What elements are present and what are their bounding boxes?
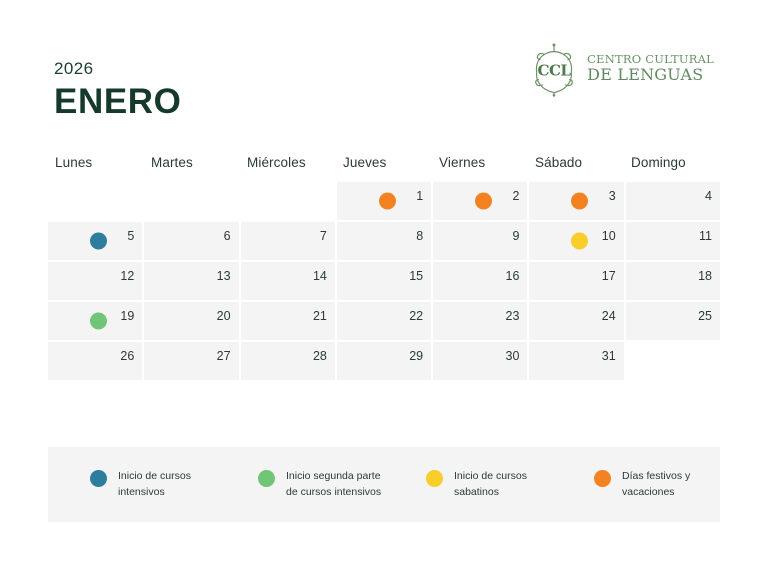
day-number: 31 <box>602 350 616 363</box>
calendar-day-cell[interactable]: 27 <box>144 342 238 380</box>
calendar-page: 2026 ENERO CCL <box>0 0 768 566</box>
weekday-label-jueves: Jueves <box>336 155 432 170</box>
day-number: 30 <box>506 350 520 363</box>
page-header: 2026 ENERO CCL <box>54 40 714 118</box>
weekday-header-row: LunesMartesMiércolesJuevesViernesSábadoD… <box>48 155 720 170</box>
day-number: 4 <box>705 190 712 203</box>
calendar-day-cell[interactable]: 25 <box>626 302 720 340</box>
event-dot-yellow <box>571 233 588 250</box>
legend-label: Inicio de cursos intensivos <box>118 469 216 499</box>
weekday-label-sábado: Sábado <box>528 155 624 170</box>
day-number: 21 <box>313 310 327 323</box>
calendar-day-cell[interactable]: 5 <box>48 222 142 260</box>
svg-text:CCL: CCL <box>538 62 572 80</box>
day-number: 17 <box>602 270 616 283</box>
day-number: 23 <box>506 310 520 323</box>
brand-line-2: DE LENGUAS <box>587 67 714 83</box>
calendar-day-cell[interactable]: 13 <box>144 262 238 300</box>
day-number: 8 <box>416 230 423 243</box>
legend-label: Inicio segunda parte de cursos intensivo… <box>286 469 384 499</box>
calendar-day-cell[interactable]: 21 <box>241 302 335 340</box>
calendar-day-cell[interactable]: 23 <box>433 302 527 340</box>
day-number: 27 <box>217 350 231 363</box>
calendar-day-cell[interactable]: 26 <box>48 342 142 380</box>
day-number: 16 <box>506 270 520 283</box>
event-dot-orange <box>475 193 492 210</box>
calendar-day-cell[interactable]: 18 <box>626 262 720 300</box>
year-label: 2026 <box>54 60 181 77</box>
ccl-monogram-icon: CCL <box>526 41 582 97</box>
title-block: 2026 ENERO <box>54 60 181 119</box>
day-number: 14 <box>313 270 327 283</box>
calendar-day-cell[interactable]: 30 <box>433 342 527 380</box>
event-dot-orange <box>571 193 588 210</box>
day-number: 26 <box>120 350 134 363</box>
day-number: 6 <box>224 230 231 243</box>
calendar-day-cell[interactable]: 4 <box>626 182 720 220</box>
day-number: 20 <box>217 310 231 323</box>
day-number: 2 <box>512 190 519 203</box>
day-number: 3 <box>609 190 616 203</box>
weekday-label-lunes: Lunes <box>48 155 144 170</box>
event-dot-green <box>90 313 107 330</box>
calendar-day-cell[interactable]: 24 <box>529 302 623 340</box>
calendar-day-cell[interactable]: 9 <box>433 222 527 260</box>
legend-dot-orange <box>594 470 611 487</box>
calendar-cell-empty <box>241 182 335 220</box>
event-dot-blue <box>90 233 107 250</box>
calendar-day-cell[interactable]: 14 <box>241 262 335 300</box>
day-number: 5 <box>127 230 134 243</box>
day-number: 11 <box>699 230 712 243</box>
day-number: 7 <box>320 230 327 243</box>
calendar-day-cell[interactable]: 31 <box>529 342 623 380</box>
legend-dot-green <box>258 470 275 487</box>
day-number: 1 <box>416 190 423 203</box>
calendar-day-cell[interactable]: 11 <box>626 222 720 260</box>
calendar-day-cell[interactable]: 16 <box>433 262 527 300</box>
day-number: 9 <box>512 230 519 243</box>
calendar-grid: 1234567891011121314151617181920212223242… <box>48 182 720 380</box>
calendar-cell-empty <box>626 342 720 380</box>
weekday-label-domingo: Domingo <box>624 155 720 170</box>
day-number: 12 <box>120 270 134 283</box>
legend-item: Inicio de cursos sabatinos <box>384 469 552 499</box>
legend-item: Días festivos y vacaciones <box>552 469 720 499</box>
calendar-day-cell[interactable]: 1 <box>337 182 431 220</box>
day-number: 15 <box>409 270 423 283</box>
legend-dot-yellow <box>426 470 443 487</box>
day-number: 22 <box>409 310 423 323</box>
calendar-day-cell[interactable]: 22 <box>337 302 431 340</box>
calendar-day-cell[interactable]: 2 <box>433 182 527 220</box>
calendar-day-cell[interactable]: 12 <box>48 262 142 300</box>
legend-panel: Inicio de cursos intensivosInicio segund… <box>48 447 720 522</box>
calendar-day-cell[interactable]: 7 <box>241 222 335 260</box>
calendar-day-cell[interactable]: 20 <box>144 302 238 340</box>
day-number: 19 <box>120 310 134 323</box>
legend-item: Inicio de cursos intensivos <box>48 469 216 499</box>
calendar-cell-empty <box>144 182 238 220</box>
weekday-label-miércoles: Miércoles <box>240 155 336 170</box>
calendar-day-cell[interactable]: 15 <box>337 262 431 300</box>
calendar-day-cell[interactable]: 17 <box>529 262 623 300</box>
day-number: 24 <box>602 310 616 323</box>
calendar-day-cell[interactable]: 10 <box>529 222 623 260</box>
weekday-label-viernes: Viernes <box>432 155 528 170</box>
day-number: 28 <box>313 350 327 363</box>
day-number: 29 <box>409 350 423 363</box>
day-number: 10 <box>602 230 616 243</box>
legend-item: Inicio segunda parte de cursos intensivo… <box>216 469 384 499</box>
legend-dot-blue <box>90 470 107 487</box>
calendar-day-cell[interactable]: 29 <box>337 342 431 380</box>
calendar-day-cell[interactable]: 6 <box>144 222 238 260</box>
legend-label: Días festivos y vacaciones <box>622 469 720 499</box>
legend-label: Inicio de cursos sabatinos <box>454 469 552 499</box>
day-number: 18 <box>698 270 712 283</box>
brand-wordmark: CENTRO CULTURAL DE LENGUAS <box>587 54 714 83</box>
weekday-label-martes: Martes <box>144 155 240 170</box>
day-number: 13 <box>217 270 231 283</box>
month-title: ENERO <box>54 84 181 119</box>
calendar-cell-empty <box>48 182 142 220</box>
calendar-day-cell[interactable]: 8 <box>337 222 431 260</box>
day-number: 25 <box>698 310 712 323</box>
brand-logo: CCL CENTRO CULTURAL DE LENGUAS <box>526 40 714 98</box>
calendar-day-cell[interactable]: 3 <box>529 182 623 220</box>
event-dot-orange <box>379 193 396 210</box>
calendar-day-cell[interactable]: 28 <box>241 342 335 380</box>
calendar-day-cell[interactable]: 19 <box>48 302 142 340</box>
